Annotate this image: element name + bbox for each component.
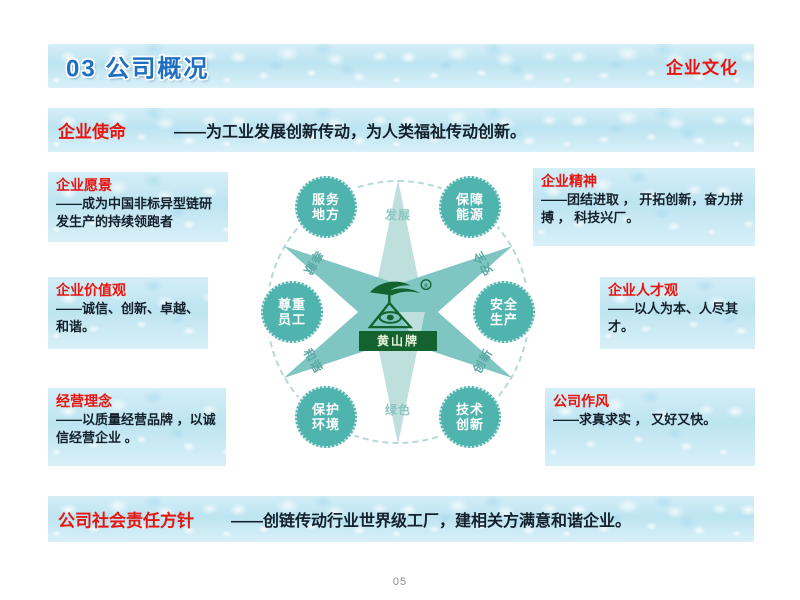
- page-title: 03 公司概况: [66, 49, 209, 84]
- corporate-culture-diagram: 发展 安全 创新 绿色 和谐 奉献: [248, 162, 548, 462]
- card-values-body: ——诚信、创新、卓越、和谐。: [56, 300, 200, 336]
- diagram-node-respect-line2: 员工: [278, 312, 306, 327]
- card-style-body: ——求真求实 ， 又好又快。: [553, 411, 747, 429]
- card-management-body: ——以质量经营品牌 ，以诚信经营企业 。: [56, 411, 218, 447]
- diagram-node-environment[interactable]: 保护 环境: [295, 386, 357, 448]
- card-spirit-body: ——团结进取 ， 开拓创新，奋力拼搏 ， 科技兴厂。: [541, 191, 747, 227]
- card-values-title: 企业价值观: [56, 281, 200, 299]
- diagram-node-technology-line2: 创新: [456, 417, 484, 432]
- diagram-node-respect-line1: 尊重: [278, 297, 306, 312]
- diagram-node-safety[interactable]: 安全 生产: [473, 281, 535, 343]
- card-spirit: 企业精神 ——团结进取 ， 开拓创新，奋力拼搏 ， 科技兴厂。: [533, 168, 755, 246]
- diagram-node-technology-line1: 技术: [456, 402, 484, 417]
- social-responsibility-bar: 公司社会责任方针 ——创链传动行业世界级工厂，建相关方满意和谐企业。: [48, 496, 754, 542]
- diagram-node-respect-staff[interactable]: 尊重 员工: [261, 281, 323, 343]
- card-talent-title: 企业人才观: [608, 281, 747, 299]
- mission-bar: 企业使命 ——为工业发展创新传动，为人类福祉传动创新。: [48, 108, 754, 152]
- svg-text:R: R: [424, 284, 428, 290]
- mountain-pine-logo-icon: R: [355, 273, 441, 331]
- diagram-node-technology[interactable]: 技术 创新: [439, 386, 501, 448]
- card-management-title: 经营理念: [56, 392, 218, 410]
- diagram-node-energy-line1: 保障: [456, 192, 484, 207]
- page-number: 05: [0, 576, 800, 588]
- card-talent: 企业人才观 ——以人为本、人尽其才。: [600, 277, 755, 349]
- header-topic-label: 企业文化: [666, 54, 738, 79]
- card-vision: 企业愿景 ——成为中国非标异型链研发生产的持续领跑者: [48, 172, 228, 242]
- slide-canvas: 03 公司概况 企业文化 企业使命 ——为工业发展创新传动，为人类福祉传动创新。…: [0, 0, 800, 600]
- card-spirit-title: 企业精神: [541, 172, 747, 190]
- card-management-philosophy: 经营理念 ——以质量经营品牌 ，以诚信经营企业 。: [48, 388, 226, 466]
- diagram-node-energy-line2: 能源: [456, 207, 484, 222]
- card-talent-body: ——以人为本、人尽其才。: [608, 300, 747, 336]
- diagram-node-service-line2: 地方: [312, 207, 340, 222]
- policy-text: ——创链传动行业世界级工厂，建相关方满意和谐企业。: [231, 507, 631, 531]
- huangshan-brand-logo: R 黄山牌: [355, 273, 441, 351]
- policy-label: 公司社会责任方针: [58, 507, 194, 532]
- section-header-bar: 03 公司概况 企业文化: [48, 44, 754, 88]
- diagram-node-service-line1: 服务: [312, 192, 340, 207]
- mission-text: ——为工业发展创新传动，为人类福祉传动创新。: [174, 118, 526, 142]
- diagram-node-safety-line1: 安全: [490, 297, 518, 312]
- card-values: 企业价值观 ——诚信、创新、卓越、和谐。: [48, 277, 208, 349]
- petal-green-label: 绿色: [371, 401, 425, 418]
- card-vision-body: ——成为中国非标异型链研发生产的持续领跑者: [56, 195, 220, 231]
- card-vision-title: 企业愿景: [56, 176, 220, 194]
- diagram-node-safety-line2: 生产: [490, 312, 518, 327]
- mission-label: 企业使命: [58, 118, 126, 143]
- card-style-title: 公司作风: [553, 392, 747, 410]
- diagram-node-environment-line1: 保护: [312, 402, 340, 417]
- card-company-style: 公司作风 ——求真求实 ， 又好又快。: [545, 388, 755, 466]
- petal-development-label: 发展: [371, 206, 425, 223]
- diagram-node-environment-line2: 环境: [312, 417, 340, 432]
- diagram-node-energy[interactable]: 保障 能源: [439, 176, 501, 238]
- diagram-node-service[interactable]: 服务 地方: [295, 176, 357, 238]
- logo-wordmark: 黄山牌: [359, 331, 437, 351]
